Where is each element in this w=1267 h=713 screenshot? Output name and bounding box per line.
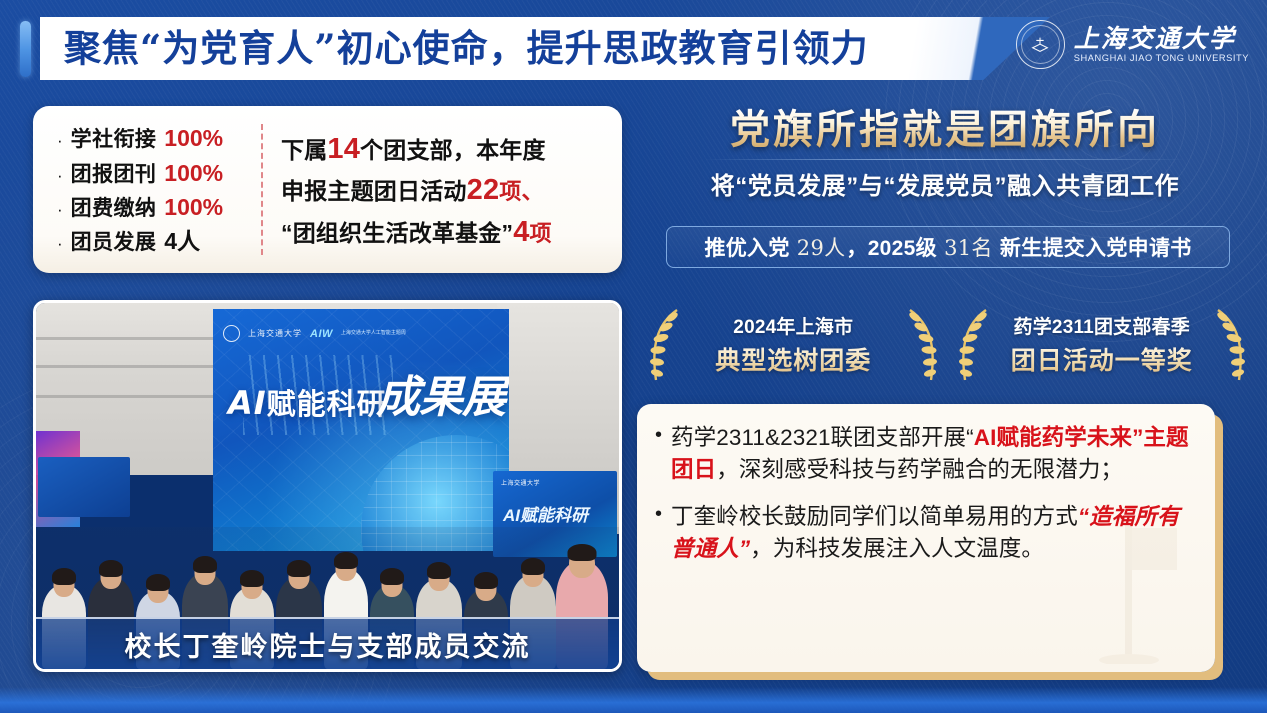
highlight-bullet: • 药学2311&2321联团支部开展“AI赋能药学未来”主题团日，深刻感受科技… — [655, 422, 1195, 485]
stat-row: · 团费缴纳 100% — [57, 193, 261, 222]
bullet-icon: · — [57, 167, 63, 184]
banner-aiw-subtitle: 上海交通大学人工智能主题周 — [341, 330, 406, 337]
highlights-card: • 药学2311&2321联团支部开展“AI赋能药学未来”主题团日，深刻感受科技… — [637, 404, 1215, 672]
banner-cursive-text: 成果展 — [376, 361, 505, 425]
stat-value: 4人 — [164, 227, 200, 256]
laurel-right-icon — [906, 306, 940, 384]
bullet-icon: • — [655, 422, 662, 485]
bullet-icon: · — [57, 132, 63, 149]
pill-number-1: 29人 — [796, 236, 847, 260]
right-heading-block: 党旗所指就是团旗所向 将“党员发展”与“发展党员”融入共青团工作 — [640, 108, 1250, 201]
highlight-text: 药学2311&2321联团支部开展“AI赋能药学未来”主题团日，深刻感受科技与药… — [671, 422, 1195, 485]
banner-seal-icon — [223, 325, 240, 342]
bullet-icon: · — [57, 201, 63, 218]
pill-number-2: 31名 — [943, 236, 994, 260]
stat-value: 100% — [164, 159, 223, 188]
photo-exhibition-banner: 上海交通大学 AIW 上海交通大学人工智能主题周 AI赋能科研 成果展 — [213, 309, 509, 551]
stat-label: 团报团刊 — [71, 162, 157, 188]
photo-side-screen — [38, 457, 130, 517]
blurb-line-3: “团组织生活改革基金”4项 — [281, 213, 605, 252]
stat-label: 学社衔接 — [71, 127, 157, 153]
award-bottom-line: 团日活动一等奖 — [1011, 341, 1193, 377]
banner-headline: AI赋能科研 — [228, 381, 387, 423]
stat-row: · 学社衔接 100% — [57, 124, 261, 153]
laurel-right-icon — [1214, 306, 1248, 384]
blurb-number: 14 — [327, 133, 360, 165]
blurb-number: 4 — [513, 216, 529, 248]
award-badge: 药学2311团支部春季 团日活动一等奖 — [954, 300, 1251, 388]
logo-chinese-name: 上海交通大学 — [1074, 26, 1249, 52]
bullet-icon: • — [655, 501, 662, 564]
title-accent-bar — [20, 21, 31, 77]
title-divider — [705, 159, 1185, 161]
blurb-text: 申报主题团日活动 — [281, 178, 467, 204]
blurb-line-1: 下属14个团支部，本年度 — [281, 130, 605, 169]
stat-label: 团费缴纳 — [71, 196, 157, 222]
stats-list: · 学社衔接 100% · 团报团刊 100% · 团费缴纳 100% · 团员… — [33, 106, 261, 273]
award-badge: 2024年上海市 典型选树团委 — [645, 300, 942, 388]
text-part: 药学2311&2321联团支部开展“ — [671, 425, 974, 450]
photo-caption-text: 校长丁奎岭院士与支部成员交流 — [125, 625, 531, 664]
stat-value: 100% — [164, 193, 223, 222]
membership-stat-pill: 推优入党 29人，2025级 31名 新生提交入党申请书 — [666, 226, 1230, 268]
banner-sjtu-label: 上海交通大学 — [248, 328, 302, 339]
text-part: ，深刻感受科技与药学融合的无限潜力； — [716, 457, 1123, 482]
right-subtitle: 将“党员发展”与“发展党员”融入共青团工作 — [640, 166, 1250, 201]
page-title: 聚焦“为党育人”初心使命，提升思政教育引领力 — [64, 30, 869, 67]
blurb-text: “团组织生活改革基金” — [281, 220, 513, 246]
blurb-number: 22 — [467, 174, 500, 206]
stat-row: · 团报团刊 100% — [57, 159, 261, 188]
stat-row: · 团员发展 4人 — [57, 227, 261, 256]
university-logo: 上海交通大学 SHANGHAI JIAO TONG UNIVERSITY — [1016, 20, 1249, 69]
blurb-unit: 项 — [530, 221, 552, 246]
ship-anchor-glyph — [1029, 34, 1051, 56]
laurel-left-icon — [956, 306, 990, 384]
bullet-icon: · — [57, 235, 63, 252]
highlight-bullet: • 丁奎岭校长鼓励同学们以简单易用的方式“造福所有普通人”，为科技发展注入人文温… — [655, 501, 1195, 564]
banner-main-text: 赋能科研 — [267, 387, 387, 421]
university-seal-icon — [1016, 20, 1065, 69]
slide-header: 聚焦“为党育人”初心使命，提升思政教育引领力 上海交通大学 SHANGHAI J… — [0, 0, 1267, 96]
slide-canvas: 聚焦“为党育人”初心使命，提升思政教育引领力 上海交通大学 SHANGHAI J… — [0, 0, 1267, 713]
highlight-text: 丁奎岭校长鼓励同学们以简单易用的方式“造福所有普通人”，为科技发展注入人文温度。 — [671, 501, 1195, 564]
photo-caption: 校长丁奎岭院士与支部成员交流 — [36, 617, 619, 669]
banner-aiw-logo: AIW — [310, 328, 333, 340]
blurb-text: 下属 — [281, 137, 327, 163]
banner-ai-text: AI — [228, 384, 267, 422]
pill-text: 推优入党 29人，2025级 31名 新生提交入党申请书 — [704, 232, 1191, 262]
event-photo: 上海交通大学 AIW 上海交通大学人工智能主题周 AI赋能科研 成果展 上海交通… — [33, 300, 622, 672]
bottom-glow-strip — [0, 687, 1267, 713]
award-bottom-line: 典型选树团委 — [715, 341, 871, 377]
stats-blurb: 下属14个团支部，本年度 申报主题团日活动22项、 “团组织生活改革基金”4项 — [263, 106, 622, 273]
title-plate: 聚焦“为党育人”初心使命，提升思政教育引领力 — [40, 17, 1050, 80]
stats-card: · 学社衔接 100% · 团报团刊 100% · 团费缴纳 100% · 团员… — [33, 106, 622, 273]
right-title: 党旗所指就是团旗所向 — [640, 108, 1250, 153]
text-part: ，为科技发展注入人文温度。 — [750, 536, 1044, 561]
blurb-text: 个团支部，本年度 — [360, 137, 546, 163]
blurb-line-2: 申报主题团日活动22项、 — [281, 171, 605, 210]
awards-row: 2024年上海市 典型选树团委 — [645, 300, 1250, 388]
laurel-left-icon — [647, 306, 681, 384]
award-top-line: 药学2311团支部春季 — [1011, 312, 1193, 339]
text-part: 丁奎岭校长鼓励同学们以简单易用的方式 — [671, 504, 1078, 529]
award-top-line: 2024年上海市 — [715, 312, 871, 339]
logo-english-name: SHANGHAI JIAO TONG UNIVERSITY — [1074, 53, 1249, 63]
back-screen-text: AI赋能科研 — [503, 501, 588, 526]
back-screen-label: 上海交通大学 — [501, 478, 540, 487]
stat-label: 团员发展 — [71, 230, 157, 256]
stat-value: 100% — [164, 124, 223, 153]
photo-scene: 上海交通大学 AIW 上海交通大学人工智能主题周 AI赋能科研 成果展 上海交通… — [36, 303, 619, 669]
blurb-unit: 项、 — [499, 179, 543, 204]
